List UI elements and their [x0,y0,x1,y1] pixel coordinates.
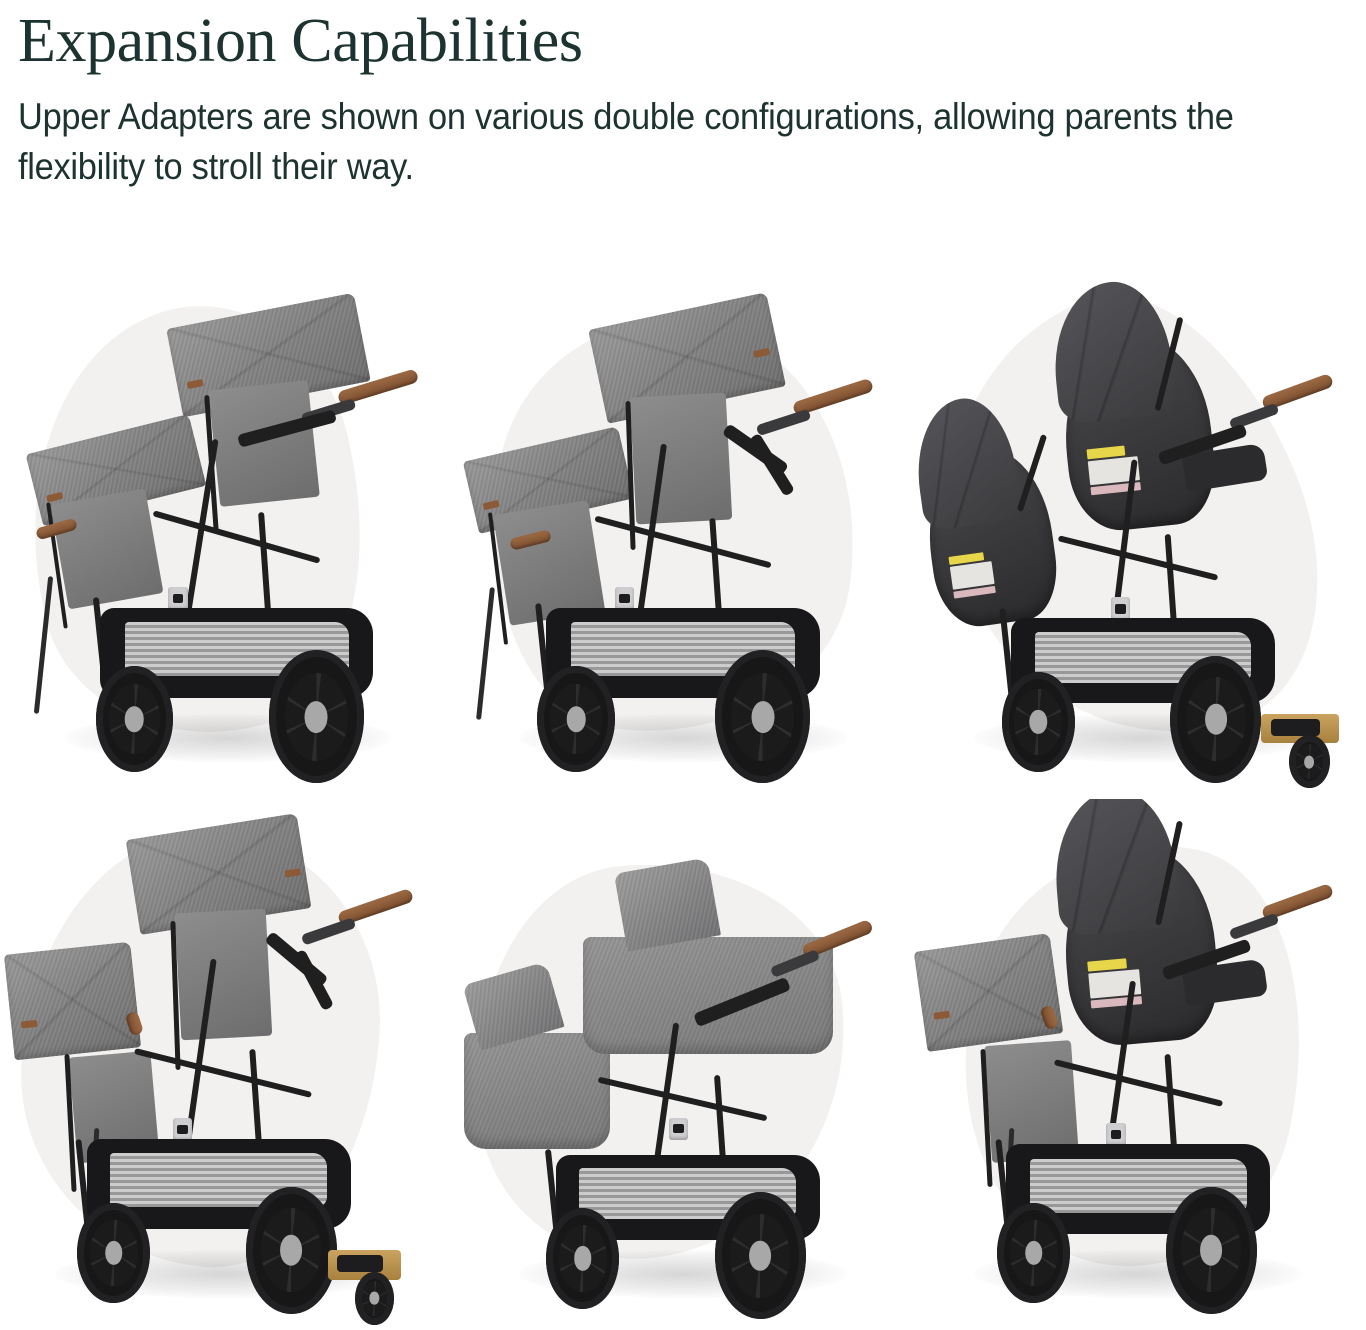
rear-toddler-seat-pad [51,489,164,610]
front-swivel-wheel [546,1208,619,1309]
rear-wheel [269,650,365,783]
panel-toddler-seat-and-infant-car-seat[interactable] [911,799,1366,1330]
upper-adapter-clip [168,587,187,610]
upper-adapter-clip [173,1118,192,1141]
front-bassinet-hood [614,857,722,952]
page-header: Expansion Capabilities Upper Adapters ar… [18,4,1348,192]
rear-wheel [246,1187,337,1314]
rear-wheel [1166,1187,1257,1314]
page-title: Expansion Capabilities [18,4,1348,78]
panel-double-toddler-seats-with-board[interactable] [0,799,455,1330]
front-infant-car-seat [1057,841,1224,1050]
rear-toddler-seat-canopy [4,941,142,1060]
front-toddler-seat-pad [630,393,732,525]
front-swivel-wheel [96,666,173,772]
front-infant-car-seat [1056,330,1221,535]
front-bassinet [583,937,833,1054]
stroller-illustration-3 [911,268,1366,799]
front-toddler-seat-pad [208,380,320,507]
rear-bassinet-hood [463,961,566,1050]
upper-adapter-clip [615,587,634,610]
rear-bassinet [464,1033,610,1150]
stroller-illustration-5 [455,799,910,1330]
rear-toddler-seat-pad [493,500,605,625]
front-swivel-wheel [537,666,614,772]
upper-adapter-clip [669,1118,687,1140]
expansion-capabilities-page: Expansion Capabilities Upper Adapters ar… [0,0,1366,1330]
upper-adapter-clip [1111,597,1130,620]
front-swivel-wheel [77,1203,150,1304]
rear-wheel [1170,656,1261,783]
panel-double-infant-car-seats[interactable] [911,268,1366,799]
stroller-illustration-1 [0,268,455,799]
stroller-illustration-2 [455,268,910,799]
front-toddler-seat-pad [174,908,272,1040]
rear-infant-car-seat [917,441,1063,632]
upper-adapter-clip [1106,1123,1125,1146]
rear-toddler-seat-canopy [913,933,1062,1052]
rear-wheel [715,1192,806,1319]
panel-double-bassinets[interactable] [455,799,910,1330]
stroller-illustration-4 [0,799,455,1330]
panel-double-toddler-seats-stacked[interactable] [0,268,455,799]
stroller-illustration-6 [911,799,1366,1330]
ride-along-board-wheel [355,1272,394,1325]
panel-double-toddler-seats-parent-facing[interactable] [455,268,910,799]
page-subtitle: Upper Adapters are shown on various doub… [18,92,1255,192]
front-swivel-wheel [997,1203,1070,1304]
rear-wheel [715,650,811,783]
front-swivel-wheel [1002,672,1075,773]
ride-along-board-wheel [1289,735,1330,788]
configuration-gallery [0,268,1366,1330]
car-seat-canopy [911,393,1023,532]
